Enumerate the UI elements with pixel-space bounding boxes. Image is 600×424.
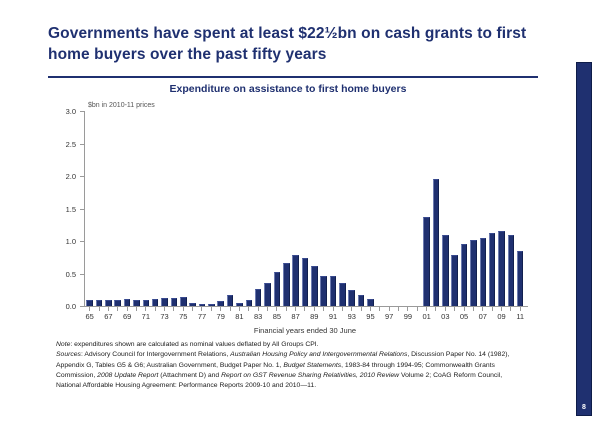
x-tick	[385, 307, 394, 311]
y-axis-unit-label: $bn in 2010-11 prices	[88, 102, 155, 109]
x-tick-label: 71	[141, 312, 150, 324]
bar-slot	[441, 111, 450, 306]
bars-container	[85, 111, 525, 306]
bar-slot	[310, 111, 319, 306]
bar-slot	[179, 111, 188, 306]
bar-slot	[319, 111, 328, 306]
x-tick	[235, 307, 244, 311]
x-tick-label	[207, 312, 216, 324]
x-tick-label: 75	[179, 312, 188, 324]
x-tick-label: 93	[347, 312, 356, 324]
bar-slot	[122, 111, 131, 306]
sources-text-1: : Advisory Council for Intergovernment R…	[81, 351, 230, 358]
x-tick-label	[132, 312, 141, 324]
bar-slot	[104, 111, 113, 306]
x-tick	[431, 307, 440, 311]
note-label: Note	[56, 341, 70, 348]
bar-slot	[291, 111, 300, 306]
x-tick	[85, 307, 94, 311]
x-tick-label	[450, 312, 459, 324]
bar-slot	[394, 111, 403, 306]
bar-slot	[356, 111, 365, 306]
x-tick	[151, 307, 160, 311]
x-tick	[478, 307, 487, 311]
bar-slot	[253, 111, 262, 306]
bar	[470, 240, 477, 306]
x-tick	[113, 307, 122, 311]
x-tick-label: 69	[122, 312, 131, 324]
x-tick-label: 05	[459, 312, 468, 324]
sources-line: Sources: Advisory Council for Intergover…	[56, 350, 526, 391]
bar	[152, 299, 159, 306]
x-tick	[104, 307, 113, 311]
bar-slot	[300, 111, 309, 306]
x-tick	[216, 307, 225, 311]
bar-slot	[160, 111, 169, 306]
x-tick	[188, 307, 197, 311]
x-tick	[244, 307, 253, 311]
x-tick	[272, 307, 281, 311]
bar	[508, 235, 515, 307]
x-tick-label: 09	[497, 312, 506, 324]
bar-slot	[338, 111, 347, 306]
x-tick-label	[338, 312, 347, 324]
x-tick-label: 95	[366, 312, 375, 324]
bar-slot	[422, 111, 431, 306]
x-tick-label: 65	[85, 312, 94, 324]
sources-italic-2: Budget Statements	[283, 362, 341, 369]
x-tick	[132, 307, 141, 311]
x-tick-label: 79	[216, 312, 225, 324]
bar-slot	[347, 111, 356, 306]
slide: Governments have spent at least $22½bn o…	[0, 0, 600, 424]
x-tick-label: 97	[385, 312, 394, 324]
bar-slot	[132, 111, 141, 306]
chart-plot-area: $bn in 2010-11 prices 0.00.51.01.52.02.5…	[48, 100, 533, 335]
x-tick-label	[151, 312, 160, 324]
x-tick	[310, 307, 319, 311]
sources-italic-3: 2008 Update Report	[97, 372, 158, 379]
x-tick	[403, 307, 412, 311]
note-line: Note: expenditures shown are calculated …	[56, 340, 526, 350]
x-tick-label	[319, 312, 328, 324]
bar	[302, 258, 309, 306]
x-tick-label: 81	[235, 312, 244, 324]
y-tick-label: 1.0	[48, 237, 76, 246]
x-tick	[225, 307, 234, 311]
bar-slot	[244, 111, 253, 306]
bar-slot	[207, 111, 216, 306]
x-tick	[169, 307, 178, 311]
sources-text-4: (Attachment D) and	[158, 372, 221, 379]
bar-slot	[328, 111, 337, 306]
x-tick	[347, 307, 356, 311]
x-axis-title: Financial years ended 30 June	[85, 326, 525, 335]
y-tick-label: 1.5	[48, 205, 76, 214]
y-tick-label: 2.0	[48, 172, 76, 181]
x-tick-label: 99	[403, 312, 412, 324]
x-tick-label: 73	[160, 312, 169, 324]
bar	[367, 299, 374, 306]
x-tick-label	[431, 312, 440, 324]
bar	[330, 276, 337, 306]
bar	[498, 231, 505, 306]
x-tick-label	[225, 312, 234, 324]
x-axis-tick-labels: 6567697173757779818385878991939597990103…	[85, 312, 525, 324]
x-tick	[413, 307, 422, 311]
x-tick-label: 03	[441, 312, 450, 324]
bar-slot	[478, 111, 487, 306]
x-tick	[394, 307, 403, 311]
x-tick-label	[94, 312, 103, 324]
x-tick	[300, 307, 309, 311]
x-tick-label	[413, 312, 422, 324]
bar-slot	[366, 111, 375, 306]
bar	[480, 238, 487, 306]
x-tick	[122, 307, 131, 311]
bar-slot	[113, 111, 122, 306]
bar	[171, 298, 178, 306]
bar-slot	[141, 111, 150, 306]
bar	[311, 266, 318, 306]
sources-italic-1: Australian Housing Policy and Intergover…	[230, 351, 407, 358]
note-text: : expenditures shown are calculated as n…	[70, 341, 318, 348]
bar	[423, 217, 430, 306]
x-tick-label	[375, 312, 384, 324]
x-tick-label	[188, 312, 197, 324]
y-tick-label: 0.0	[48, 302, 76, 311]
x-tick-label: 67	[104, 312, 113, 324]
bar	[161, 298, 168, 306]
x-tick-label: 83	[253, 312, 262, 324]
bar	[433, 179, 440, 306]
title-divider	[48, 76, 538, 78]
x-tick	[207, 307, 216, 311]
x-tick	[422, 307, 431, 311]
x-tick	[356, 307, 365, 311]
bar-slot	[272, 111, 281, 306]
bar-slot	[431, 111, 440, 306]
bar	[124, 299, 131, 306]
x-tick-label	[300, 312, 309, 324]
x-tick	[487, 307, 496, 311]
x-tick-label	[394, 312, 403, 324]
bar-slot	[85, 111, 94, 306]
bar	[442, 235, 449, 307]
x-tick-label	[113, 312, 122, 324]
bar-slot	[94, 111, 103, 306]
x-tick-label	[506, 312, 515, 324]
x-tick	[375, 307, 384, 311]
x-tick	[263, 307, 272, 311]
x-tick	[291, 307, 300, 311]
bar	[489, 233, 496, 306]
bar-slot	[459, 111, 468, 306]
bar	[274, 272, 281, 306]
bar	[451, 255, 458, 306]
x-tick-label	[263, 312, 272, 324]
x-tick	[319, 307, 328, 311]
bar-slot	[375, 111, 384, 306]
x-tick	[450, 307, 459, 311]
x-tick-label: 87	[291, 312, 300, 324]
bar-slot	[188, 111, 197, 306]
slide-sidebar: 8	[576, 62, 592, 416]
bar-slot	[197, 111, 206, 306]
x-tick-label	[169, 312, 178, 324]
bar-slot	[385, 111, 394, 306]
bar	[348, 290, 355, 306]
x-tick-label	[356, 312, 365, 324]
x-tick	[253, 307, 262, 311]
x-tick-label: 11	[516, 312, 525, 324]
bar-slot	[216, 111, 225, 306]
sources-label: Sources	[56, 351, 81, 358]
x-tick	[94, 307, 103, 311]
bar-slot	[225, 111, 234, 306]
x-tick	[497, 307, 506, 311]
bar	[264, 283, 271, 306]
bar	[255, 289, 262, 306]
bar	[283, 263, 290, 306]
y-tick-label: 2.5	[48, 140, 76, 149]
x-tick	[366, 307, 375, 311]
x-tick	[469, 307, 478, 311]
x-tick-label: 07	[478, 312, 487, 324]
footnotes: Note: expenditures shown are calculated …	[56, 340, 526, 392]
bar-slot	[413, 111, 422, 306]
x-tick	[282, 307, 291, 311]
x-tick	[328, 307, 337, 311]
x-tick-label: 85	[272, 312, 281, 324]
bar	[339, 283, 346, 306]
bar	[180, 297, 187, 306]
bar-slot	[282, 111, 291, 306]
bar-slot	[506, 111, 515, 306]
page-number: 8	[577, 404, 591, 411]
y-tick-label: 3.0	[48, 107, 76, 116]
x-tick-label	[487, 312, 496, 324]
page-title: Governments have spent at least $22½bn o…	[48, 24, 528, 66]
x-tick	[506, 307, 515, 311]
x-tick-label: 77	[197, 312, 206, 324]
bar-slot	[487, 111, 496, 306]
bar-slot	[169, 111, 178, 306]
bar-slot	[497, 111, 506, 306]
x-tick-label: 89	[310, 312, 319, 324]
bar-slot	[516, 111, 525, 306]
chart-title: Expenditure on assistance to first home …	[48, 83, 528, 95]
bar-slot	[263, 111, 272, 306]
bar-series	[85, 111, 525, 306]
bar-slot	[450, 111, 459, 306]
x-tick	[338, 307, 347, 311]
bar	[227, 295, 234, 306]
bar-slot	[403, 111, 412, 306]
bar-slot	[469, 111, 478, 306]
x-tick	[516, 307, 525, 311]
x-tick	[141, 307, 150, 311]
bar	[517, 251, 524, 306]
x-tick-label: 01	[422, 312, 431, 324]
y-tick-label: 0.5	[48, 270, 76, 279]
x-tick	[179, 307, 188, 311]
bar-slot	[235, 111, 244, 306]
sources-italic-4: Report on GST Revenue Sharing Relativiti…	[221, 372, 399, 379]
x-tick-label: 91	[328, 312, 337, 324]
x-tick	[459, 307, 468, 311]
bar	[320, 276, 327, 306]
x-tick	[441, 307, 450, 311]
bar-slot	[151, 111, 160, 306]
x-tick-label	[244, 312, 253, 324]
x-axis-ticks	[85, 307, 525, 311]
x-tick	[160, 307, 169, 311]
bar	[292, 255, 299, 306]
x-tick	[197, 307, 206, 311]
bar	[358, 295, 365, 306]
x-tick-label	[469, 312, 478, 324]
bar	[461, 244, 468, 306]
x-tick-label	[282, 312, 291, 324]
